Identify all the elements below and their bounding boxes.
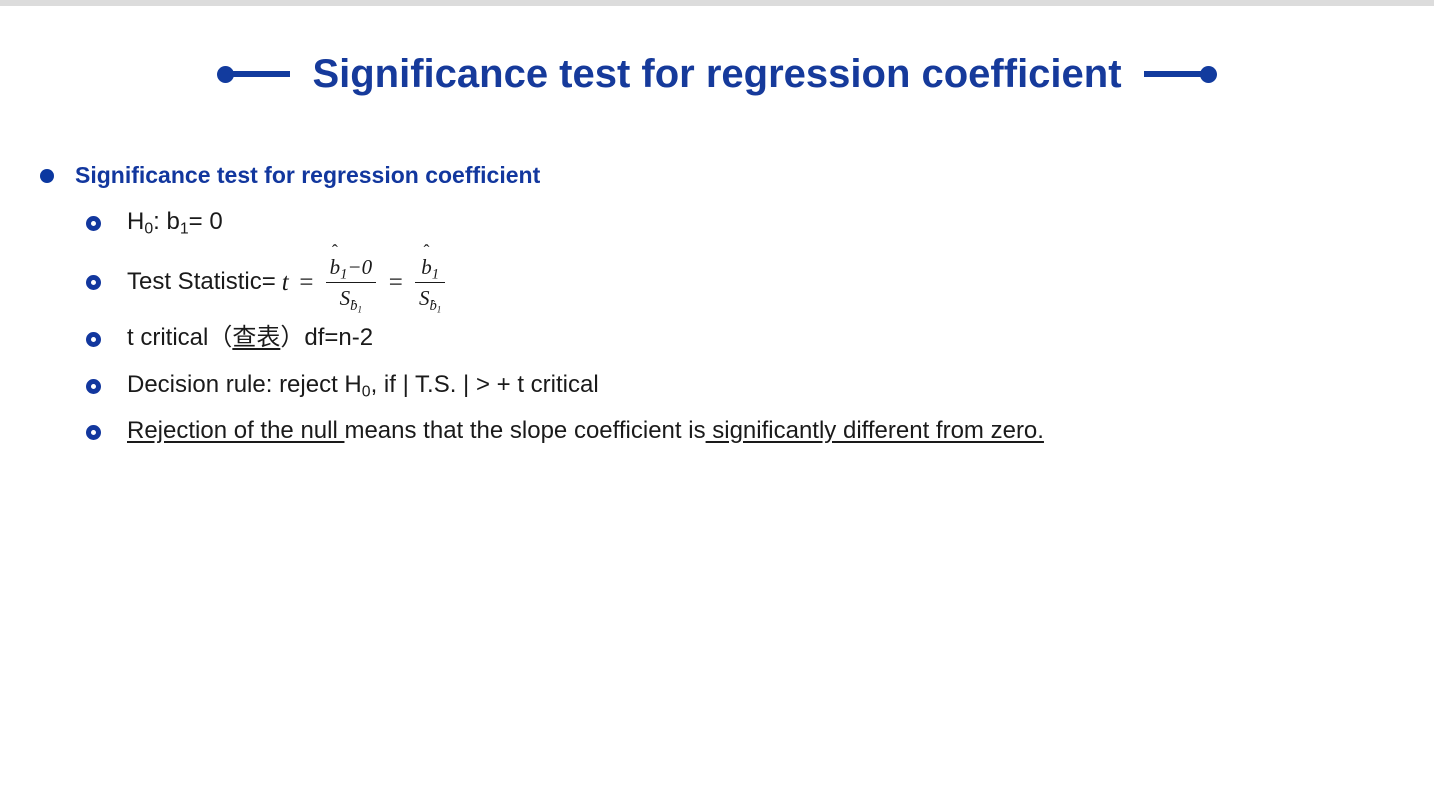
rejection-meaning-text: Rejection of the null means that the slo… <box>127 415 1044 447</box>
b-subscript: 1 <box>180 221 189 238</box>
fraction-first-denominator: Ŝb1 <box>336 283 366 312</box>
rejection-phrase-underlined: Rejection of the null <box>127 417 344 444</box>
ring-bullet-icon <box>86 332 101 347</box>
t-critical-chinese-note: 查表 <box>232 324 280 351</box>
equals-zero: = 0 <box>189 208 223 235</box>
decision-rule-h-subscript: 0 <box>362 383 371 400</box>
level1-bullet-item: Significance test for regression coeffic… <box>40 160 1434 190</box>
rejection-phrase-middle: means that the slope coefficient is <box>344 417 705 444</box>
h-subscript: 0 <box>144 221 153 238</box>
h-symbol: H <box>127 208 144 235</box>
fraction-second-denominator: Ŝb1 <box>415 283 445 312</box>
top-gray-strip <box>0 0 1434 6</box>
list-item-decision-rule: Decision rule: reject H0, if | T.S. | > … <box>86 369 1434 401</box>
fraction-first-numerator: ̂b1−0 <box>326 253 377 282</box>
list-item-rejection-meaning: Rejection of the null means that the slo… <box>86 415 1434 447</box>
test-statistic-label: Test Statistic= <box>127 266 276 298</box>
decision-rule-text: Decision rule: reject H0, if | T.S. | > … <box>127 369 599 401</box>
ring-bullet-icon <box>86 275 101 290</box>
list-item-null-hypothesis: H0: b1= 0 <box>86 206 1434 238</box>
fraction-second-numerator: ̂b1 <box>417 253 443 282</box>
ring-bullet-icon <box>86 379 101 394</box>
decision-rule-prefix: Decision rule: reject H <box>127 371 362 398</box>
fraction-second: ̂b1 Ŝb1 <box>415 253 445 313</box>
t-critical-prefix: t critical（ <box>127 324 232 351</box>
list-item-test-statistic: Test Statistic= t = ̂b1−0 Ŝb1 = ̂b1 <box>86 253 1434 313</box>
line-dot-icon <box>1144 66 1217 83</box>
formula-equals-2: = <box>378 266 413 300</box>
list-item-t-critical: t critical（查表）df=n-2 <box>86 322 1434 354</box>
dot-line-icon <box>217 66 290 83</box>
slide-canvas: Significance test for regression coeffic… <box>0 0 1434 800</box>
decision-rule-condition: , if | T.S. | > + t critical <box>371 371 599 398</box>
page-title: Significance test for regression coeffic… <box>290 52 1143 96</box>
t-critical-text: t critical（查表）df=n-2 <box>127 322 373 354</box>
ring-bullet-icon <box>86 216 101 231</box>
level1-bullet-label: Significance test for regression coeffic… <box>75 160 540 190</box>
slide-title-row: Significance test for regression coeffic… <box>0 52 1434 96</box>
t-critical-df: ）df=n-2 <box>280 324 373 351</box>
test-statistic-formula: t = ̂b1−0 Ŝb1 = ̂b1 Ŝb1 <box>276 253 448 313</box>
ring-bullet-icon <box>86 425 101 440</box>
rejection-phrase-emphasis: significantly different from zero. <box>706 417 1044 444</box>
colon-b-symbol: : b <box>153 208 180 235</box>
test-statistic-row: Test Statistic= t = ̂b1−0 Ŝb1 = ̂b1 <box>127 253 447 313</box>
slide-body: Significance test for regression coeffic… <box>0 160 1434 461</box>
null-hypothesis-text: H0: b1= 0 <box>127 206 223 238</box>
fraction-first: ̂b1−0 Ŝb1 <box>326 253 377 313</box>
level2-bullet-list: H0: b1= 0 Test Statistic= t = ̂b1−0 Ŝb1 <box>86 206 1434 446</box>
formula-equals-1: = <box>289 266 324 300</box>
formula-variable-t: t <box>276 266 289 300</box>
filled-circle-bullet-icon <box>40 169 54 183</box>
